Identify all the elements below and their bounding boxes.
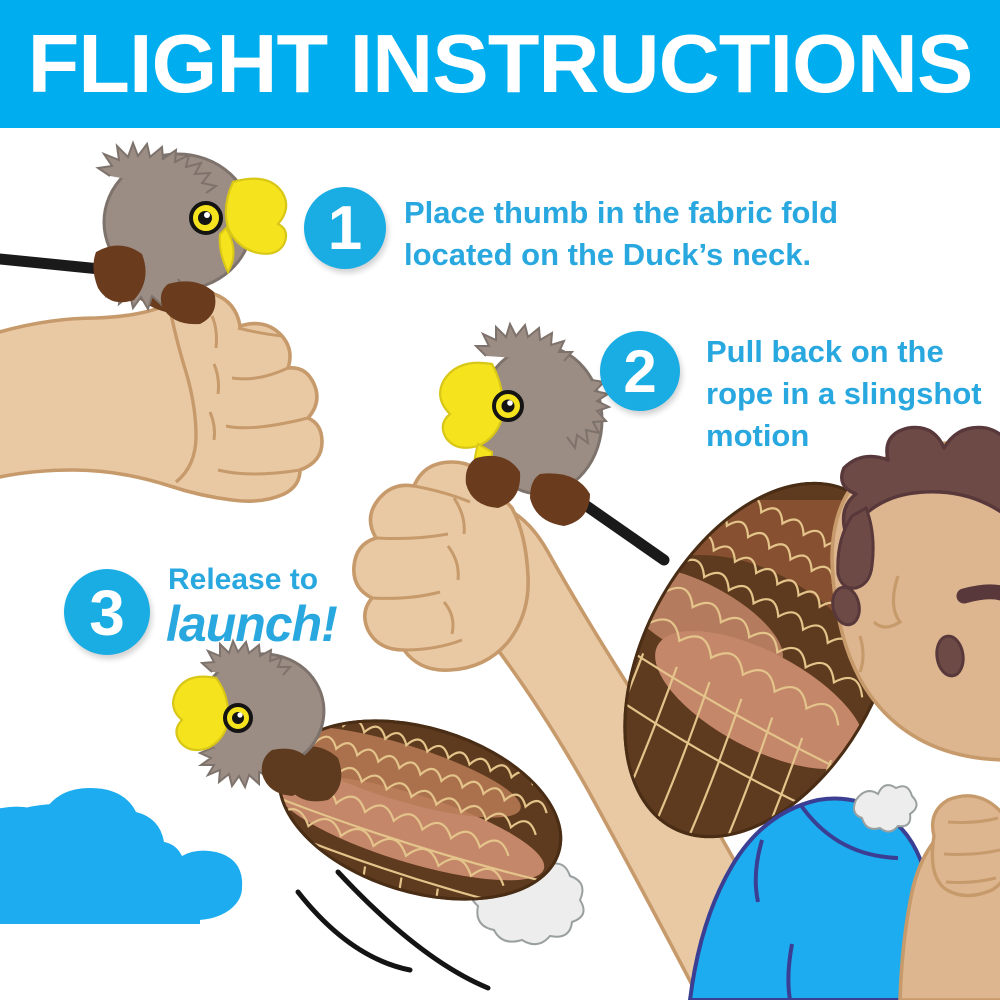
eye-right [934,634,965,677]
rope-line [0,258,130,272]
rope-line [578,500,664,560]
step-1-text: Place thumb in the fabric fold located o… [404,192,874,276]
step-2-line-1: Pull back on the [706,331,996,373]
duck-body-flying [245,689,583,979]
step-3-badge: 3 [64,569,150,655]
flight-instructions-poster: FLIGHT INSTRUCTIONS [0,0,1000,1000]
step-1-line-1: Place thumb in the fabric fold [404,192,874,234]
step-1-badge: 1 [304,187,386,269]
step-3-line-2: launch! [166,596,337,652]
hand-gripping [0,292,322,501]
duck-tail [470,862,583,944]
duck-head-panel-2 [440,324,609,526]
panel-3-illustration [173,641,583,988]
motion-line [338,872,488,988]
step-2-line-2: rope in a slingshot [706,373,996,415]
step-3-line-1: Release to [168,562,318,598]
duck-head-panel-3 [173,641,331,796]
page-title: FLIGHT INSTRUCTIONS [0,16,1000,112]
boy-character [690,427,1000,1000]
step-2-text: Pull back on the rope in a slingshot mot… [706,331,996,457]
panel-1-illustration [0,143,322,501]
step-1-line-2: located on the Duck’s neck. [404,234,874,276]
step-2-line-3: motion [706,415,996,457]
motion-line [298,892,410,970]
hand-pulling-rope [354,462,528,670]
illustration-layer [0,0,1000,1000]
step-2-badge: 2 [600,331,680,411]
eye-left [829,585,862,628]
cloud-icon [0,788,242,924]
duck-wing-body [559,437,955,903]
duck-head-panel-1 [93,143,286,324]
